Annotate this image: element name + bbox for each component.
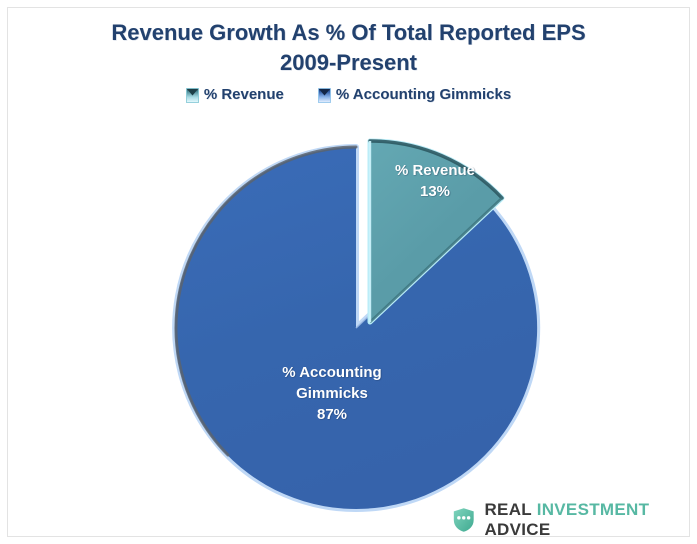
- pie-chart-graphic: [0, 0, 697, 544]
- slice-label-gimmicks-name-1: % Accounting: [232, 362, 432, 383]
- chart-container: Revenue Growth As % Of Total Reported EP…: [0, 0, 697, 544]
- slice-label-gimmicks-value: 87%: [232, 404, 432, 425]
- brand-wordmark: REAL INVESTMENT ADVICE: [484, 500, 697, 540]
- slice-label-gimmicks: % Accounting Gimmicks 87%: [232, 362, 432, 425]
- slice-label-revenue: % Revenue 13%: [370, 160, 500, 202]
- brand-word-investment: INVESTMENT: [537, 500, 650, 519]
- slice-label-gimmicks-name-2: Gimmicks: [232, 383, 432, 404]
- brand-word-advice: ADVICE: [484, 520, 550, 539]
- brand-word-real: REAL: [484, 500, 531, 519]
- slice-label-revenue-name: % Revenue: [370, 160, 500, 181]
- slice-label-revenue-value: 13%: [370, 181, 500, 202]
- brand-logo: REAL INVESTMENT ADVICE: [452, 500, 697, 540]
- shield-icon: [452, 506, 475, 534]
